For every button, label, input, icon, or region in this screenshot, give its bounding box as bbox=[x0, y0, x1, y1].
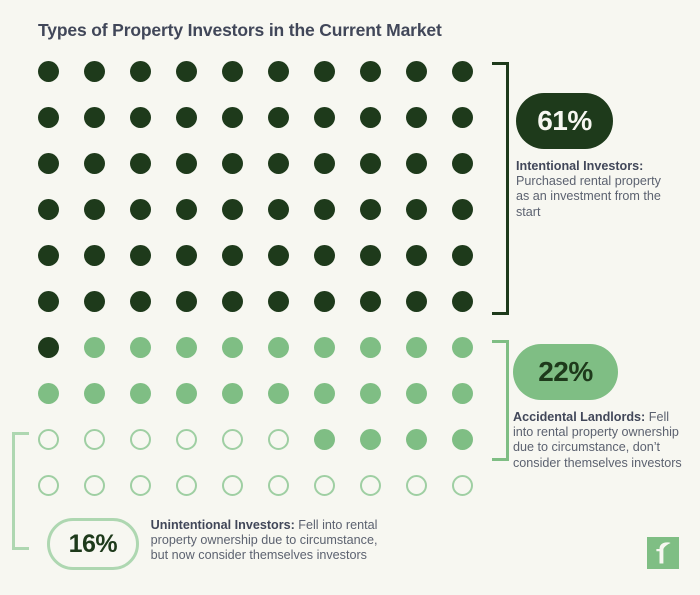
dot-hollow bbox=[268, 429, 289, 450]
dot-grid-row bbox=[38, 383, 488, 404]
dot-dark bbox=[406, 153, 427, 174]
bracket-intentional-investors bbox=[492, 62, 509, 315]
dot-hollow bbox=[406, 475, 427, 496]
dot-dark bbox=[360, 291, 381, 312]
dot-dark bbox=[406, 107, 427, 128]
dot-dark bbox=[38, 61, 59, 82]
callout-accidental-landlords: 22% Accidental Landlords: Fell into rent… bbox=[513, 344, 697, 471]
dot-dark bbox=[406, 199, 427, 220]
waffle-dot-grid bbox=[38, 61, 488, 512]
dot-dark bbox=[176, 245, 197, 266]
dot-dark bbox=[360, 199, 381, 220]
dot-dark bbox=[176, 61, 197, 82]
dot-dark bbox=[360, 153, 381, 174]
dot-dark bbox=[84, 107, 105, 128]
dot-hollow bbox=[314, 475, 335, 496]
dot-dark bbox=[84, 153, 105, 174]
dot-dark bbox=[314, 61, 335, 82]
dot-mid bbox=[38, 383, 59, 404]
dot-hollow bbox=[130, 475, 151, 496]
dot-dark bbox=[130, 61, 151, 82]
dot-dark bbox=[38, 199, 59, 220]
dot-mid bbox=[268, 383, 289, 404]
dot-dark bbox=[360, 245, 381, 266]
dot-hollow bbox=[176, 429, 197, 450]
dot-dark bbox=[268, 199, 289, 220]
dot-dark bbox=[130, 107, 151, 128]
dot-hollow bbox=[38, 475, 59, 496]
dot-dark bbox=[452, 291, 473, 312]
dot-dark bbox=[38, 245, 59, 266]
dot-hollow bbox=[268, 475, 289, 496]
dot-dark bbox=[130, 153, 151, 174]
dot-dark bbox=[222, 245, 243, 266]
dot-dark bbox=[130, 245, 151, 266]
dot-dark bbox=[38, 153, 59, 174]
callout-intentional-investors: 61% Intentional Investors: Purchased ren… bbox=[516, 93, 692, 220]
dot-mid bbox=[360, 429, 381, 450]
callout-text-intentional: Intentional Investors: Purchased rental … bbox=[516, 159, 666, 220]
dot-dark bbox=[268, 61, 289, 82]
dot-mid bbox=[314, 337, 335, 358]
dot-mid bbox=[314, 383, 335, 404]
dot-grid-row bbox=[38, 245, 488, 266]
page-title: Types of Property Investors in the Curre… bbox=[38, 20, 442, 41]
dot-hollow bbox=[84, 429, 105, 450]
dot-mid bbox=[268, 337, 289, 358]
dot-grid-row bbox=[38, 429, 488, 450]
dot-hollow bbox=[222, 429, 243, 450]
callout-lead-unintentional: Unintentional Investors: bbox=[151, 518, 295, 532]
dot-dark bbox=[222, 107, 243, 128]
dot-grid-row bbox=[38, 475, 488, 496]
dot-dark bbox=[268, 153, 289, 174]
callout-lead-intentional: Intentional Investors: bbox=[516, 159, 643, 173]
dot-mid bbox=[222, 383, 243, 404]
dot-dark bbox=[176, 291, 197, 312]
dot-mid bbox=[406, 429, 427, 450]
dot-grid-row bbox=[38, 61, 488, 82]
dot-hollow bbox=[130, 429, 151, 450]
dot-dark bbox=[222, 61, 243, 82]
callout-body-intentional: Purchased rental property as an investme… bbox=[516, 174, 661, 218]
dot-dark bbox=[406, 61, 427, 82]
dot-dark bbox=[84, 199, 105, 220]
dot-dark bbox=[314, 245, 335, 266]
dot-dark bbox=[222, 153, 243, 174]
dot-mid bbox=[84, 383, 105, 404]
dot-grid-row bbox=[38, 291, 488, 312]
dot-dark bbox=[452, 107, 473, 128]
dot-hollow bbox=[176, 475, 197, 496]
dot-mid bbox=[130, 383, 151, 404]
dot-dark bbox=[314, 153, 335, 174]
dot-dark bbox=[84, 61, 105, 82]
dot-mid bbox=[314, 429, 335, 450]
dot-hollow bbox=[452, 475, 473, 496]
callout-text-unintentional: Unintentional Investors: Fell into renta… bbox=[151, 518, 387, 564]
dot-dark bbox=[452, 61, 473, 82]
dot-dark bbox=[176, 107, 197, 128]
dot-dark bbox=[406, 291, 427, 312]
dot-hollow bbox=[84, 475, 105, 496]
dot-mid bbox=[176, 383, 197, 404]
dot-dark bbox=[222, 199, 243, 220]
dot-mid bbox=[360, 337, 381, 358]
dot-dark bbox=[84, 291, 105, 312]
dot-hollow bbox=[38, 429, 59, 450]
dot-mid bbox=[406, 337, 427, 358]
dot-dark bbox=[314, 199, 335, 220]
dot-dark bbox=[452, 199, 473, 220]
dot-grid-row bbox=[38, 337, 488, 358]
dot-hollow bbox=[222, 475, 243, 496]
dot-grid-row bbox=[38, 107, 488, 128]
dot-dark bbox=[38, 337, 59, 358]
dot-dark bbox=[314, 107, 335, 128]
dot-mid bbox=[176, 337, 197, 358]
dot-dark bbox=[360, 107, 381, 128]
dot-mid bbox=[452, 383, 473, 404]
dot-dark bbox=[268, 107, 289, 128]
dot-dark bbox=[38, 291, 59, 312]
infographic-canvas: Types of Property Investors in the Curre… bbox=[0, 0, 700, 595]
percent-badge-unintentional: 16% bbox=[47, 518, 139, 570]
dot-dark bbox=[130, 199, 151, 220]
dot-mid bbox=[452, 429, 473, 450]
dot-mid bbox=[222, 337, 243, 358]
percent-badge-accidental: 22% bbox=[513, 344, 618, 400]
dot-mid bbox=[360, 383, 381, 404]
dot-dark bbox=[84, 245, 105, 266]
dot-dark bbox=[38, 107, 59, 128]
dot-dark bbox=[268, 291, 289, 312]
callout-lead-accidental: Accidental Landlords: bbox=[513, 410, 645, 424]
dot-dark bbox=[452, 245, 473, 266]
dot-grid-row bbox=[38, 199, 488, 220]
dot-dark bbox=[130, 291, 151, 312]
dot-grid-row bbox=[38, 153, 488, 174]
dot-mid bbox=[452, 337, 473, 358]
callout-text-accidental: Accidental Landlords: Fell into rental p… bbox=[513, 410, 691, 471]
dot-dark bbox=[268, 245, 289, 266]
bracket-accidental-landlords bbox=[492, 340, 509, 461]
dot-dark bbox=[222, 291, 243, 312]
bracket-unintentional-investors bbox=[12, 432, 29, 550]
brand-logo-icon bbox=[647, 537, 679, 569]
dot-dark bbox=[314, 291, 335, 312]
dot-mid bbox=[130, 337, 151, 358]
dot-dark bbox=[452, 153, 473, 174]
percent-badge-intentional: 61% bbox=[516, 93, 613, 149]
dot-dark bbox=[406, 245, 427, 266]
dot-dark bbox=[360, 61, 381, 82]
dot-mid bbox=[84, 337, 105, 358]
callout-unintentional-investors: 16% Unintentional Investors: Fell into r… bbox=[47, 518, 387, 570]
dot-mid bbox=[406, 383, 427, 404]
dot-dark bbox=[176, 153, 197, 174]
dot-dark bbox=[176, 199, 197, 220]
dot-hollow bbox=[360, 475, 381, 496]
